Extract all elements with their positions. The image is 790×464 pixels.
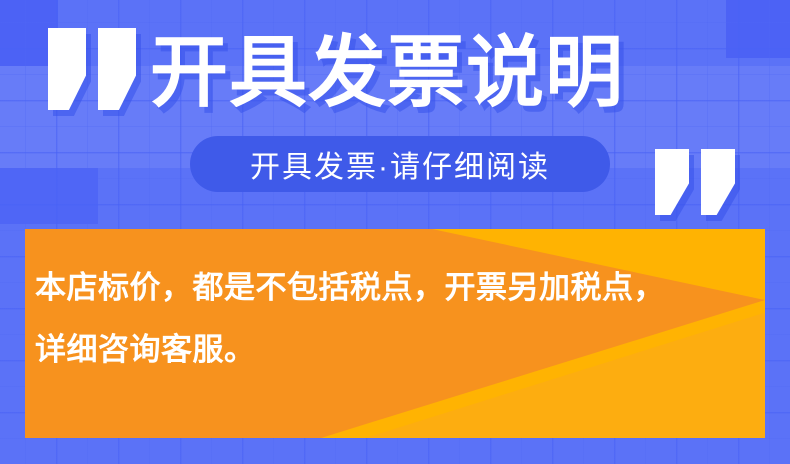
quote-close-icon xyxy=(655,149,735,215)
invoice-notice-banner: 开具发票说明 开具发票·请仔细阅读 本店标价，都是不包括税点，开票另加税点， 详… xyxy=(0,0,790,464)
notice-panel: 本店标价，都是不包括税点，开票另加税点， 详细咨询客服。 xyxy=(25,229,765,438)
notice-body: 本店标价，都是不包括税点，开票另加税点， 详细咨询客服。 xyxy=(25,229,765,381)
quote-close-mark-1 xyxy=(655,149,689,215)
subtitle-badge: 开具发票·请仔细阅读 xyxy=(190,136,610,192)
background-block-top-right xyxy=(726,0,790,58)
quote-open-mark-2 xyxy=(98,28,136,110)
notice-line: 详细咨询客服。 xyxy=(35,319,765,381)
quote-open-icon xyxy=(48,28,136,110)
notice-line: 本店标价，都是不包括税点，开票另加税点， xyxy=(35,257,765,319)
page-title: 开具发票说明 xyxy=(150,22,624,122)
quote-open-mark-1 xyxy=(48,28,86,110)
quote-close-mark-2 xyxy=(701,149,735,215)
subtitle-badge-label: 开具发票·请仔细阅读 xyxy=(250,142,550,186)
background-block-bottom-left xyxy=(0,168,98,224)
